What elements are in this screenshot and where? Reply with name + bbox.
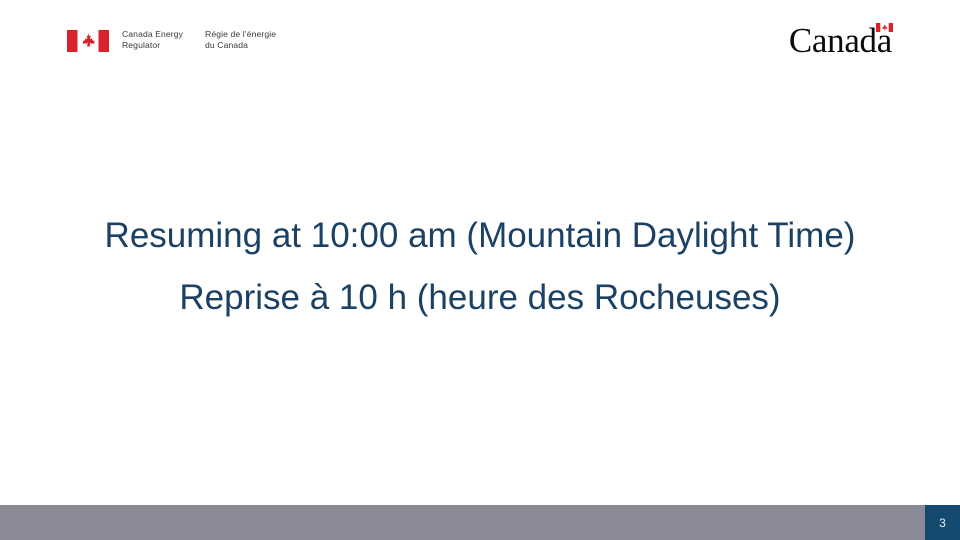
canada-wordmark: Canada [789,22,892,62]
slide-body-line-english: Resuming at 10:00 am (Mountain Daylight … [0,205,960,267]
page-number-block: 3 [925,505,960,540]
canada-wordmark-text: Canada [789,22,892,60]
cer-name-english: Canada Energy Regulator [122,29,183,51]
cer-name-english-line1: Canada Energy [122,29,183,40]
cer-name-french-line1: Régie de l’énergie [205,29,276,40]
page-number: 3 [939,517,946,529]
cer-name-french-line2: du Canada [205,40,276,51]
slide-body-line-french: Reprise à 10 h (heure des Rocheuses) [0,267,960,329]
slide-body: Resuming at 10:00 am (Mountain Daylight … [0,205,960,329]
canada-flag-icon [876,23,893,32]
cer-logo: Canada Energy Regulator Régie de l’énerg… [67,29,276,52]
footer-bar [0,505,960,540]
cer-name-english-line2: Regulator [122,40,183,51]
cer-wordmark-text: Canada Energy Regulator Régie de l’énerg… [122,29,276,51]
canada-flag-icon [67,30,109,52]
slide-canvas: Canada Energy Regulator Régie de l’énerg… [0,0,960,540]
cer-name-french: Régie de l’énergie du Canada [205,29,276,51]
slide-header: Canada Energy Regulator Régie de l’énerg… [0,0,960,95]
